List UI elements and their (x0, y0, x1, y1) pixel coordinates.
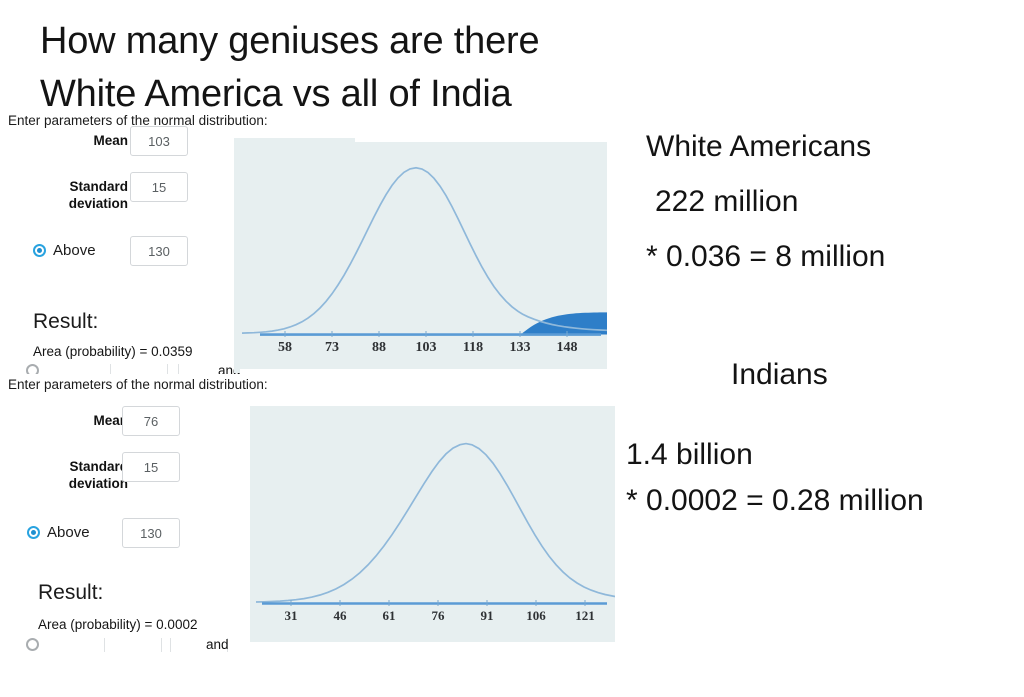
tick-label: 73 (325, 340, 339, 355)
mean-label: Mean (8, 412, 128, 429)
standard-deviation-label: Standard deviation (8, 458, 128, 492)
annotation-white-americans-title: White Americans (646, 130, 871, 164)
standard-deviation-input[interactable]: 15 (122, 452, 180, 482)
cutoff-and-label: and (206, 638, 229, 652)
tick-label: 88 (372, 340, 386, 355)
above-condition-row: Above 130 (0, 524, 232, 570)
cutoff-input-left[interactable] (104, 638, 162, 652)
mean-field-row: Mean 76 (0, 412, 232, 458)
radio-selected-icon[interactable] (27, 526, 40, 539)
parameter-form: Mean 103 Standard deviation 15 Above 130 (0, 132, 232, 288)
slide-title-line-1: How many geniuses are there (40, 20, 539, 63)
result-heading: Result: (38, 581, 103, 605)
panel-seam (355, 138, 620, 142)
above-threshold-input[interactable]: 130 (122, 518, 180, 548)
normal-curve-1 (242, 168, 607, 333)
above-threshold-input[interactable]: 130 (130, 236, 188, 266)
normal-curve-chart-1: 58 73 88 103 118 133 148 (234, 138, 607, 373)
annotation-indians-title: Indians (731, 358, 828, 392)
stdev-field-row: Standard deviation 15 (0, 178, 232, 242)
tick-label: 103 (416, 340, 437, 355)
mean-label: Mean (8, 132, 128, 149)
standard-deviation-label: Standard deviation (8, 178, 128, 212)
annotation-white-americans-calculation: * 0.036 = 8 million (646, 240, 885, 274)
tick-label: 91 (481, 608, 494, 623)
shaded-tail-area-1 (523, 312, 608, 334)
tick-label: 133 (510, 340, 531, 355)
above-radio-group[interactable]: Above (27, 524, 90, 541)
above-radio-group[interactable]: Above (33, 242, 96, 259)
tick-label: 31 (285, 608, 298, 623)
chart-1-svg: 58 73 88 103 118 133 148 (234, 138, 607, 373)
stdev-field-row: Standard deviation 15 (0, 458, 232, 524)
result-area-probability: Area (probability) = 0.0002 (38, 617, 197, 632)
mean-input[interactable]: 76 (122, 406, 180, 436)
radio-unselected-icon[interactable] (26, 638, 39, 651)
tick-label: 148 (557, 340, 578, 355)
tick-label: 61 (383, 608, 396, 623)
result-area-probability: Area (probability) = 0.0359 (33, 344, 192, 359)
tick-label: 46 (334, 608, 348, 623)
mean-input[interactable]: 103 (130, 126, 188, 156)
normal-curve-2 (256, 444, 615, 602)
calculator-prompt: Enter parameters of the normal distribut… (8, 377, 268, 392)
mean-field-row: Mean 103 (0, 132, 232, 178)
standard-deviation-input[interactable]: 15 (130, 172, 188, 202)
tick-label: 76 (432, 608, 446, 623)
annotation-indians-population: 1.4 billion (626, 438, 753, 472)
above-radio-label: Above (47, 524, 90, 541)
result-heading: Result: (33, 310, 98, 334)
radio-selected-icon[interactable] (33, 244, 46, 257)
above-radio-label: Above (53, 242, 96, 259)
cutoff-row: and (0, 638, 250, 654)
normal-curve-chart-2: 31 46 61 76 91 106 121 (250, 406, 615, 642)
tick-label: 118 (463, 340, 483, 355)
annotation-indians-calculation: * 0.0002 = 0.28 million (626, 484, 924, 518)
tick-label: 121 (575, 608, 595, 623)
tick-label: 106 (526, 608, 546, 623)
above-condition-row: Above 130 (0, 242, 232, 288)
chart-2-svg: 31 46 61 76 91 106 121 (250, 406, 615, 642)
annotation-white-americans-population: 222 million (655, 185, 798, 219)
tick-label: 58 (278, 340, 292, 355)
parameter-form: Mean 76 Standard deviation 15 Above 130 (0, 412, 232, 570)
